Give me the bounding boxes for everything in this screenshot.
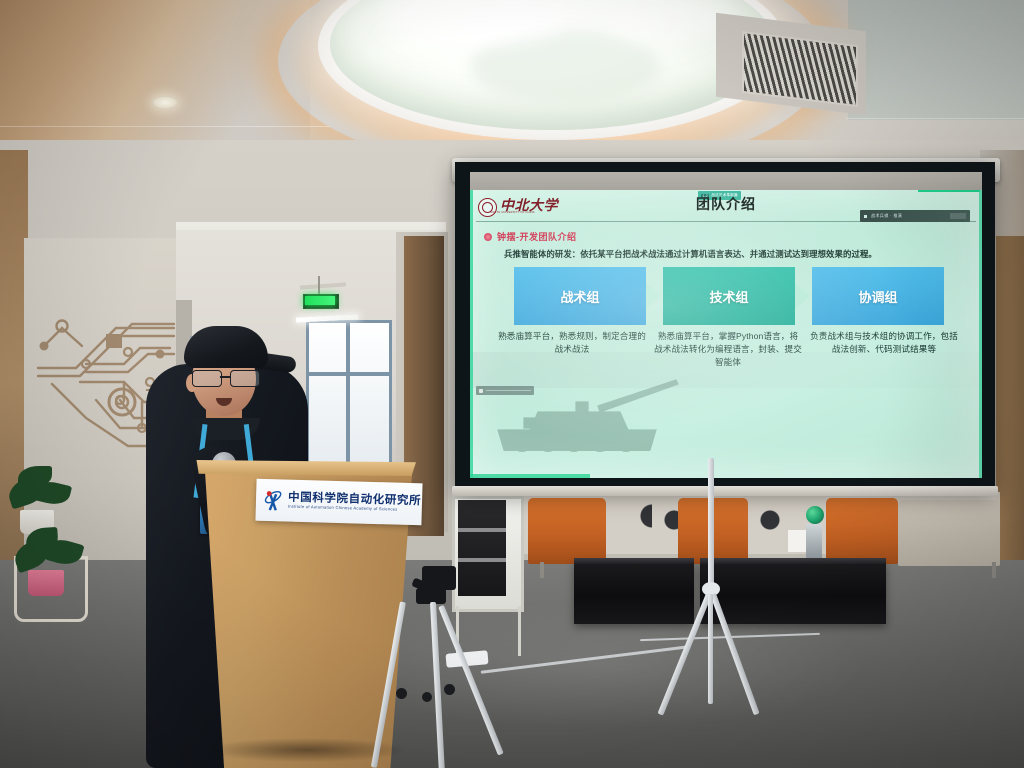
sofa-leg [540, 562, 544, 578]
red-bullet-icon [484, 233, 492, 241]
tripod-lock-knob [444, 684, 455, 695]
whiteboard-leg [518, 606, 521, 656]
lounge-sofa-icon [528, 498, 606, 564]
presentation-app-chrome [470, 172, 982, 192]
trophy-icon [806, 524, 822, 558]
process-box-tactics: 战术组 [514, 267, 646, 325]
cas-institute-logo-icon [263, 488, 284, 513]
lounge-sofa-icon [826, 498, 898, 564]
process-box-coordination: 协调组 [812, 267, 944, 325]
ceiling-seam [0, 126, 330, 127]
tripod-lock-knob [396, 688, 407, 699]
table-card [788, 530, 806, 552]
tripod-leg [710, 593, 759, 715]
chevron-right-icon [795, 281, 812, 311]
tripod-leg [438, 605, 504, 756]
camera-tripod-icon [660, 458, 780, 728]
chevron-right-icon [646, 281, 663, 311]
glasses-bridge [220, 376, 230, 378]
potted-plant-icon [28, 570, 64, 596]
lens-right [230, 370, 260, 387]
badge-square-icon [479, 389, 483, 393]
window-mullion [306, 372, 392, 376]
slide-left-edge [470, 190, 473, 478]
eyeglasses-icon [192, 370, 260, 385]
tripod-center-column [708, 458, 714, 586]
header-accent-bar [918, 190, 980, 192]
trophy-globe [806, 506, 824, 524]
cabinet-shelf [458, 558, 506, 562]
slide-nav-chip: 战术兵棋 · 推演 [860, 210, 970, 222]
presentation-room-photo: 中北大学 NORTH UNIVERSITY OF CHINA 1-2 战法艺术革… [0, 0, 1024, 768]
tripod-leg [430, 602, 445, 768]
image-caption-badge-icon [476, 386, 534, 395]
tank-watermark-icon [480, 368, 680, 472]
exit-sign-rod [318, 276, 320, 296]
tripod-lock-knob [422, 692, 432, 702]
ceiling-panel-right [848, 0, 1024, 120]
lens-left [192, 370, 222, 387]
podium-top [192, 460, 416, 476]
nav-dot-icon [864, 215, 867, 218]
process-boxes: 战术组 技术组 协调组 [514, 266, 944, 326]
cabinet-shelf [458, 528, 506, 532]
nav-label: 战术兵棋 · 推演 [871, 213, 902, 219]
footer-accent-bar [470, 474, 590, 478]
badge-line [486, 390, 531, 391]
exit-sign-glow [305, 296, 335, 305]
venue-sign: 中国科学院自动化研究所 Institute of Automation Chin… [255, 479, 422, 526]
baseball-cap-icon [184, 326, 268, 368]
ceiling-seam [846, 118, 1024, 119]
lounge-sofa-icon [898, 500, 1000, 566]
camera-tripod-icon [392, 566, 512, 766]
tripod-leg [708, 594, 713, 704]
right-wood-panel [996, 236, 1024, 566]
slide-header: 中北大学 NORTH UNIVERSITY OF CHINA 1-2 战法艺术革… [470, 190, 982, 222]
slide-kicker: 钟摆-开发团队介绍 [484, 230, 577, 243]
slide-right-edge [979, 190, 982, 478]
kicker-text: 钟摆-开发团队介绍 [497, 230, 577, 243]
slide-lead-text: 兵推智能体的研发：依托某平台把战术战法通过计算机语言表达、并通过测试达到理想效果… [504, 248, 974, 260]
presentation-slide: 中北大学 NORTH UNIVERSITY OF CHINA 1-2 战法艺术革… [470, 190, 982, 478]
process-box-technology: 技术组 [663, 267, 795, 325]
nav-chip-tail [950, 213, 966, 219]
tripod-leg [658, 593, 712, 716]
recessed-downlight-icon [152, 96, 178, 109]
sofa-leg [992, 562, 996, 578]
venue-sign-text: 中国科学院自动化研究所 Institute of Automation Chin… [288, 492, 422, 514]
